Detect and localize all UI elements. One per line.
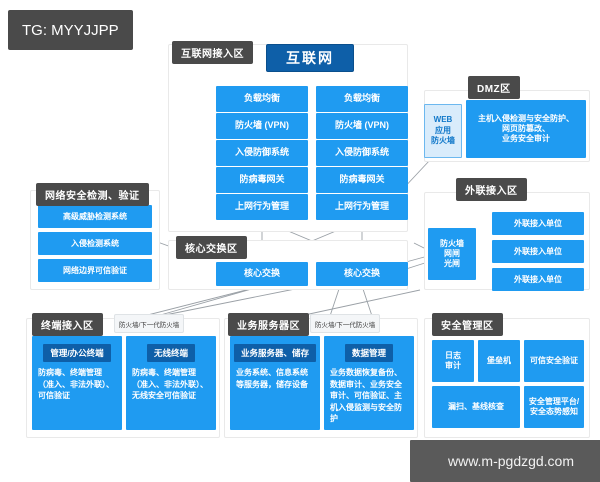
waf-line-3: 防火墙 bbox=[431, 136, 455, 147]
node-external-unit-1[interactable]: 外联接入单位 bbox=[492, 212, 584, 235]
dmz-line-2: 网页防篡改、 bbox=[502, 124, 550, 134]
card-head-wireless-terminal: 无线终端 bbox=[147, 344, 195, 362]
node-core-switch-right[interactable]: 核心交换 bbox=[316, 262, 408, 286]
platform-line-1: 安全管理平台/ bbox=[529, 397, 579, 407]
node-internet[interactable]: 互联网 bbox=[266, 44, 354, 72]
node-trusted-security-verification[interactable]: 可信安全验证 bbox=[524, 340, 584, 382]
node-bastion-host[interactable]: 堡垒机 bbox=[478, 340, 520, 382]
diagram-canvas: 互联网接入区 核心交换区 网络安全检测、验证 DMZ区 外联接入区 终端接入区 … bbox=[0, 0, 600, 480]
card-head-business-server-storage: 业务服务器、储存 bbox=[234, 344, 316, 362]
node-core-switch-left[interactable]: 核心交换 bbox=[216, 262, 308, 286]
node-external-unit-3[interactable]: 外联接入单位 bbox=[492, 268, 584, 291]
node-log-audit[interactable]: 日志 审计 bbox=[432, 340, 474, 382]
node-load-balancer-right[interactable]: 负载均衡 bbox=[316, 86, 408, 112]
card-body-wireless-terminal: 防病毒、终端管理（准入、非法外联）、无线安全可信验证 bbox=[132, 367, 210, 402]
zone-badge-external-access: 外联接入区 bbox=[456, 178, 527, 201]
card-head-management-office-terminal: 管理/办公终端 bbox=[43, 344, 110, 362]
card-body-data-management: 业务数据恢复备份、数据审计、业务安全审计、可信验证、主机入侵监测与安全防护 bbox=[330, 367, 408, 425]
dmz-line-1: 主机入侵检测与安全防护、 bbox=[478, 114, 574, 124]
node-load-balancer-left[interactable]: 负载均衡 bbox=[216, 86, 308, 112]
platform-line-2: 安全态势感知 bbox=[530, 407, 578, 417]
node-web-behavior-left[interactable]: 上网行为管理 bbox=[216, 194, 308, 220]
zone-badge-security-detect: 网络安全检测、验证 bbox=[36, 183, 149, 206]
node-antivirus-gateway-right[interactable]: 防病毒网关 bbox=[316, 167, 408, 193]
node-antivirus-gateway-left[interactable]: 防病毒网关 bbox=[216, 167, 308, 193]
gateway-line-3: 光闸 bbox=[444, 259, 460, 269]
node-web-application-firewall[interactable]: WEB 应用 防火墙 bbox=[424, 104, 462, 158]
zone-badge-core-switch: 核心交换区 bbox=[176, 236, 247, 259]
node-firewall-vpn-left[interactable]: 防火墙 (VPN) bbox=[216, 113, 308, 139]
tg-tag: TG: MYYJJPP bbox=[8, 10, 133, 50]
gateway-line-2: 网闸 bbox=[444, 249, 460, 259]
firewall-label-server: 防火墙/下一代防火墙 bbox=[310, 314, 380, 333]
waf-line-1: WEB bbox=[434, 115, 453, 126]
node-web-behavior-right[interactable]: 上网行为管理 bbox=[316, 194, 408, 220]
firewall-label-terminal: 防火墙/下一代防火墙 bbox=[114, 314, 184, 333]
dmz-line-3: 业务安全审计 bbox=[502, 134, 550, 144]
node-security-management-platform[interactable]: 安全管理平台/ 安全态势感知 bbox=[524, 386, 584, 428]
card-data-management[interactable]: 数据管理 业务数据恢复备份、数据审计、业务安全审计、可信验证、主机入侵监测与安全… bbox=[324, 336, 414, 430]
zone-badge-security-management: 安全管理区 bbox=[432, 313, 503, 336]
log-audit-line-2: 审计 bbox=[445, 361, 461, 371]
zone-badge-business-server: 业务服务器区 bbox=[228, 313, 309, 336]
node-advanced-threat-detection[interactable]: 高级威胁检测系统 bbox=[38, 205, 152, 228]
gateway-line-1: 防火墙 bbox=[440, 239, 464, 249]
node-vulnerability-scan-baseline[interactable]: 漏扫、基线核查 bbox=[432, 386, 520, 428]
waf-line-2: 应用 bbox=[435, 126, 451, 137]
card-business-server-storage[interactable]: 业务服务器、储存 业务系统、信息系统等服务器，储存设备 bbox=[230, 336, 320, 430]
node-dmz-host-protection[interactable]: 主机入侵检测与安全防护、 网页防篡改、 业务安全审计 bbox=[466, 100, 586, 158]
card-body-management-office-terminal: 防病毒、终端管理（准入、非法外联）、可信验证 bbox=[38, 367, 116, 402]
card-body-business-server-storage: 业务系统、信息系统等服务器，储存设备 bbox=[236, 367, 314, 390]
node-ips-right[interactable]: 入侵防御系统 bbox=[316, 140, 408, 166]
node-network-boundary-trust[interactable]: 网络边界可信验证 bbox=[38, 259, 152, 282]
site-watermark: www.m-pgdzgd.com bbox=[410, 440, 600, 482]
card-head-data-management: 数据管理 bbox=[345, 344, 393, 362]
zone-badge-dmz: DMZ区 bbox=[468, 76, 520, 99]
node-firewall-vpn-right[interactable]: 防火墙 (VPN) bbox=[316, 113, 408, 139]
zone-badge-terminal-access: 终端接入区 bbox=[32, 313, 103, 336]
node-external-unit-2[interactable]: 外联接入单位 bbox=[492, 240, 584, 263]
log-audit-line-1: 日志 bbox=[445, 351, 461, 361]
node-firewall-gatekeeper-optical[interactable]: 防火墙 网闸 光闸 bbox=[428, 228, 476, 280]
node-ips-left[interactable]: 入侵防御系统 bbox=[216, 140, 308, 166]
card-wireless-terminal[interactable]: 无线终端 防病毒、终端管理（准入、非法外联）、无线安全可信验证 bbox=[126, 336, 216, 430]
node-intrusion-detection-system[interactable]: 入侵检测系统 bbox=[38, 232, 152, 255]
card-management-office-terminal[interactable]: 管理/办公终端 防病毒、终端管理（准入、非法外联）、可信验证 bbox=[32, 336, 122, 430]
zone-badge-internet-access: 互联网接入区 bbox=[172, 41, 253, 64]
